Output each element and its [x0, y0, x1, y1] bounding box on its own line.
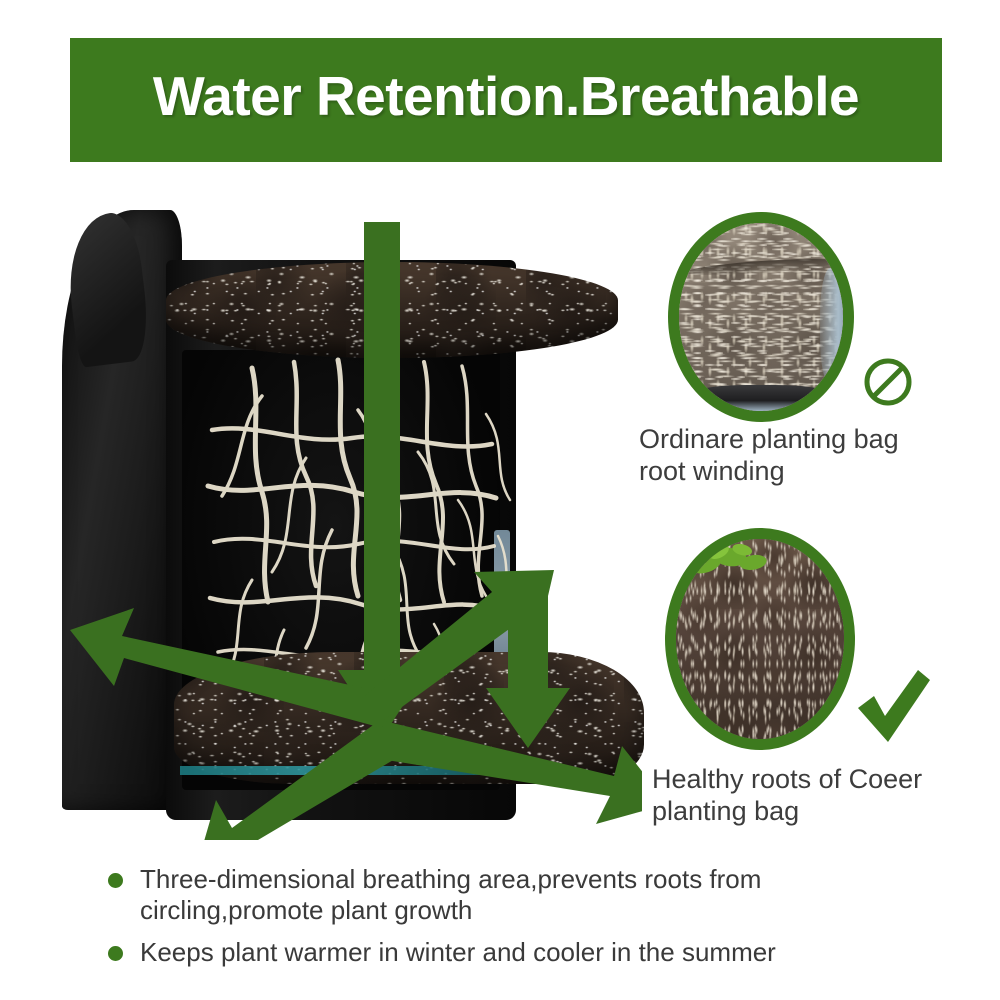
header-banner: Water Retention.Breathable — [70, 38, 942, 162]
prohibition-icon — [862, 356, 914, 408]
sprout-icon — [686, 535, 777, 579]
bullet-dot-icon — [108, 946, 123, 961]
soil-layer-bottom — [174, 652, 644, 784]
root-bound-soil-texture — [679, 223, 843, 411]
plastic-pot-edge — [820, 268, 846, 385]
feature-text: Three-dimensional breathing area,prevent… — [140, 864, 761, 926]
infographic-page: Water Retention.Breathable — [0, 0, 1000, 1000]
plastic-pot-base — [689, 385, 833, 411]
bullet-dot-icon — [108, 873, 123, 888]
bag-liner-bottom — [180, 766, 480, 775]
page-title: Water Retention.Breathable — [153, 69, 859, 124]
list-item: Three-dimensional breathing area,prevent… — [108, 864, 938, 926]
checkmark-icon — [852, 666, 934, 748]
list-item: Keeps plant warmer in winter and cooler … — [108, 937, 938, 968]
coeer-bag-photo — [665, 528, 855, 750]
feature-bullet-list: Three-dimensional breathing area,prevent… — [108, 864, 938, 980]
coeer-bag-caption: Healthy roots of Coeer planting bag — [652, 764, 1000, 828]
soil-layer-top — [166, 262, 618, 358]
ordinary-bag-photo — [668, 212, 854, 422]
feature-text: Keeps plant warmer in winter and cooler … — [140, 937, 776, 968]
hero-product-photo — [62, 200, 642, 840]
ordinary-bag-caption: Ordinare planting bag root winding — [639, 424, 984, 488]
bag-fabric-flap — [62, 210, 182, 810]
